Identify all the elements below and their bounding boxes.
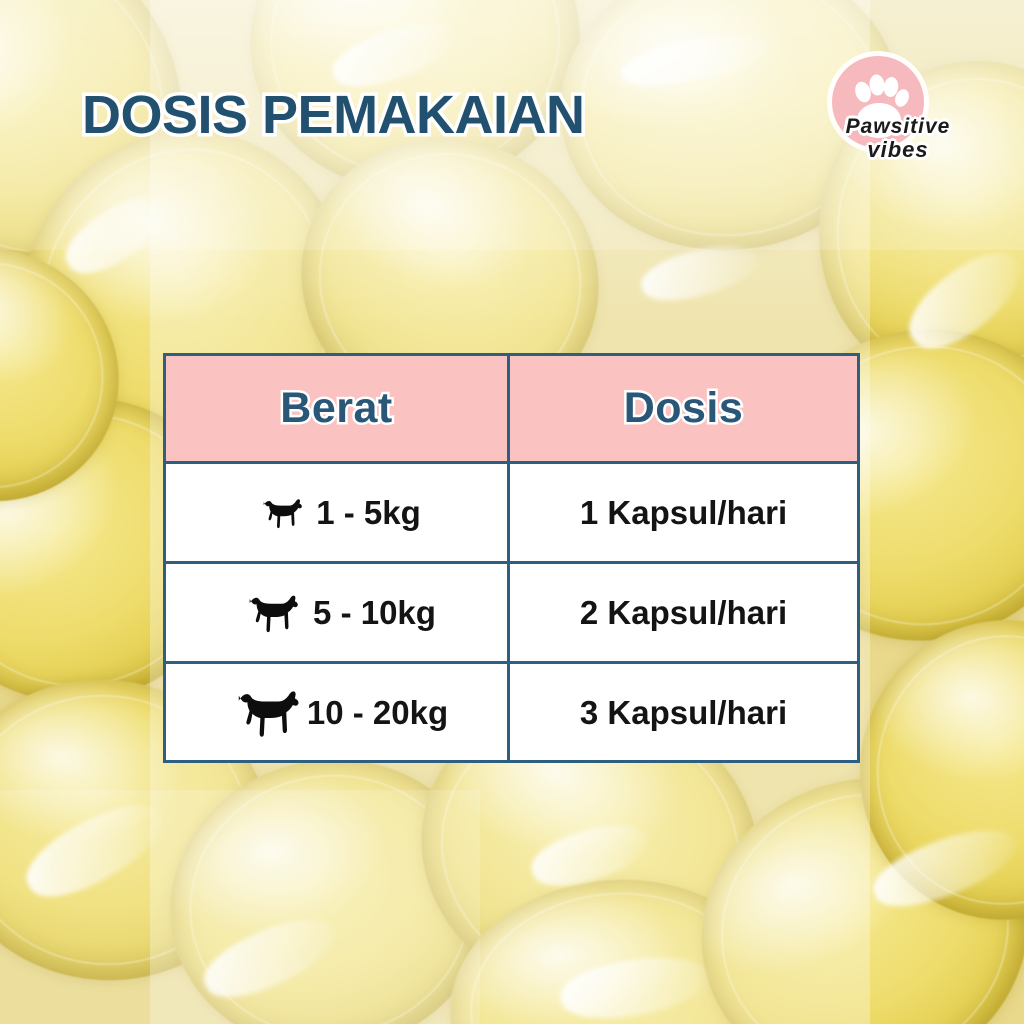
dose-label: 3 Kapsul/hari [580, 694, 787, 732]
table-row: 5 - 10kg 2 Kapsul/hari [166, 561, 857, 661]
cell-weight: 10 - 20kg [166, 664, 510, 761]
dose-label: 1 Kapsul/hari [580, 494, 787, 532]
logo-line-1: Pawsitive [842, 116, 954, 137]
header-cell-dose: Dosis [510, 356, 857, 461]
dosage-table: Berat Dosis 1 - 5kg 1 Kapsul/hari 5 - 1 [163, 353, 860, 763]
dog-icon [233, 682, 305, 744]
table-row: 10 - 20kg 3 Kapsul/hari [166, 661, 857, 761]
dog-icon [245, 588, 303, 638]
overlay-veil [0, 790, 480, 1024]
header-cell-weight: Berat [166, 356, 510, 461]
cell-dose: 3 Kapsul/hari [510, 664, 857, 761]
table-row: 1 - 5kg 1 Kapsul/hari [166, 461, 857, 561]
dose-label: 2 Kapsul/hari [580, 594, 787, 632]
weight-label: 10 - 20kg [307, 694, 448, 732]
cell-weight: 5 - 10kg [166, 564, 510, 661]
header-label-dose: Dosis [624, 384, 744, 433]
cell-dose: 1 Kapsul/hari [510, 464, 857, 561]
cell-weight: 1 - 5kg [166, 464, 510, 561]
logo-text: Pawsitive vibes [842, 116, 954, 161]
brand-logo: Pawsitive vibes [820, 52, 950, 180]
weight-label: 1 - 5kg [316, 494, 421, 532]
table-header-row: Berat Dosis [166, 356, 857, 461]
weight-label: 5 - 10kg [313, 594, 436, 632]
logo-line-2: vibes [842, 139, 954, 161]
page-title: DOSIS PEMAKAIAN [82, 84, 585, 146]
dog-icon [260, 493, 306, 533]
cell-dose: 2 Kapsul/hari [510, 564, 857, 661]
header-label-weight: Berat [280, 384, 392, 433]
